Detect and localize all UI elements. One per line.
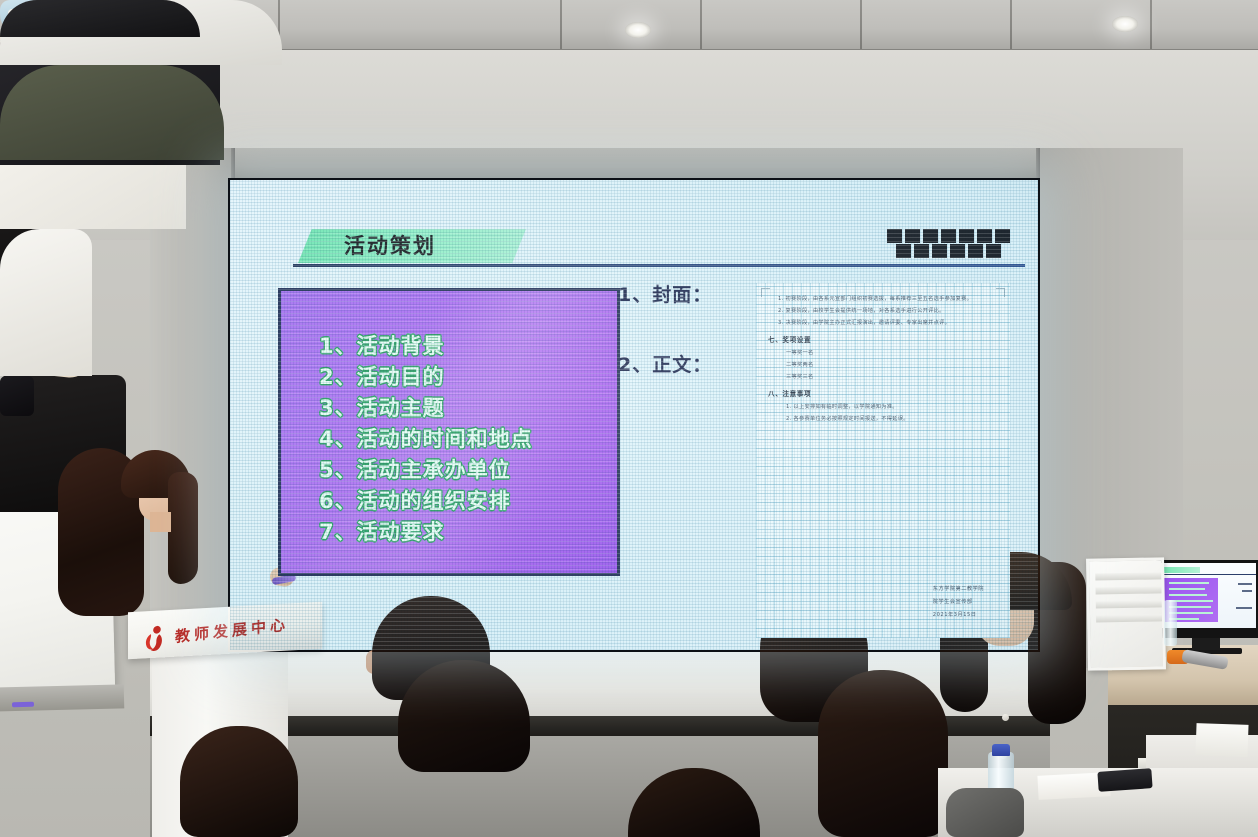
checker-square — [932, 244, 947, 258]
slide-outline-box: 1、活动背景2、活动目的3、活动主题4、活动的时间和地点5、活动主承办单位6、活… — [278, 288, 620, 576]
presenter-neck — [150, 512, 171, 532]
checker-square — [968, 244, 983, 258]
checker-square — [914, 244, 929, 258]
document-signature-line: 院学生会宣传部 — [933, 596, 984, 609]
small-bottle[interactable] — [1164, 600, 1177, 646]
ceiling-downlight — [625, 22, 651, 38]
ceiling-downlight — [1112, 16, 1138, 32]
slide-outline-item: 5、活动主承办单位 — [319, 455, 533, 486]
slide-outline-item: 2、活动目的 — [319, 362, 533, 393]
checker-square — [905, 229, 920, 243]
document-section-line: 二等奖两名 — [768, 359, 1000, 371]
document-signature-line: 东方学院第二教学院 — [933, 583, 984, 596]
document-section-heading: 七、奖项设置 — [768, 333, 1000, 347]
slide-outline-item: 4、活动的时间和地点 — [319, 424, 533, 455]
flipchart-tray — [0, 684, 124, 711]
slide-content: 活动策划 1、活动背景2、活动目的3、活动主题4、活动的时间和地点5、活动主承办… — [230, 180, 1038, 650]
slide-outline-list: 1、活动背景2、活动目的3、活动主题4、活动的时间和地点5、活动主承办单位6、活… — [319, 331, 533, 548]
slide-outline-item: 1、活动背景 — [319, 331, 533, 362]
document-signature: 东方学院第二教学院院学生会宣传部2021年3月15日 — [933, 583, 984, 622]
document-body: 1. 初赛阶段，由各系元宣部门组织初赛选拔，每系推荐三至五名选手参加复赛。2. … — [768, 293, 1000, 425]
audience-3-hair — [180, 726, 298, 837]
checker-square — [923, 229, 938, 243]
document-section-line: 一等奖一名 — [768, 347, 1000, 359]
marker-pen[interactable] — [12, 702, 34, 708]
audience-member-3 — [0, 0, 200, 37]
scanned-document-image: 1. 初赛阶段，由各系元宣部门组织初赛选拔，每系推荐三至五名选手参加复赛。2. … — [756, 283, 1010, 638]
jacket-patch — [0, 376, 34, 416]
checker-square — [887, 229, 902, 243]
checker-square — [977, 229, 992, 243]
slide-right-labels: 1、封面：2、正文： — [618, 280, 712, 377]
document-section-heading: 八、注意事项 — [768, 387, 1000, 401]
mobile-phone[interactable] — [1097, 768, 1152, 792]
audience-2-hoodie — [0, 65, 224, 160]
audience-3-body — [0, 0, 200, 37]
slide-outline-item: 6、活动的组织安排 — [319, 486, 533, 517]
document-section-line: 三等奖三名 — [768, 371, 1000, 383]
checker-square — [986, 244, 1001, 258]
paper-sheet[interactable] — [1195, 723, 1248, 757]
checker-square — [995, 229, 1010, 243]
slide-outline-item: 3、活动主题 — [319, 393, 533, 424]
jacket-button — [1002, 714, 1009, 721]
led-wall-display[interactable]: 活动策划 1、活动背景2、活动目的3、活动主题4、活动的时间和地点5、活动主承办… — [228, 178, 1040, 652]
document-section-line: 1. 以上安排如有临时调整，以学院通知为准。 — [768, 401, 1000, 413]
monitor-slide-banner — [1164, 567, 1200, 573]
slide-outline-item: 7、活动要求 — [319, 517, 533, 548]
monitor-stand — [1192, 636, 1220, 650]
varsity-jacket-sleeve — [0, 229, 92, 376]
slide-right-label: 2、正文： — [618, 350, 712, 377]
audience-5-hair — [818, 670, 948, 837]
document-section-line: 2. 各参赛单位务必按照规定时间报送，不得延误。 — [768, 413, 1000, 425]
checker-decoration — [887, 229, 1015, 260]
checker-square — [896, 244, 911, 258]
document-signature-line: 2021年3月15日 — [933, 609, 984, 622]
document-paragraph: 3. 决赛阶段，由学院主办正式汇报演出，邀请评委、专家出席并点评。 — [768, 317, 1000, 329]
wall-vent-panel — [1086, 557, 1166, 670]
presenter-hair-right — [168, 472, 198, 584]
gloves[interactable] — [946, 788, 1024, 837]
slide-title-rule — [293, 264, 1025, 267]
audience-2-hair — [398, 660, 530, 772]
document-paragraph: 2. 复赛阶段，由校学生会提供统一场地，对各系选手进行公开评比。 — [768, 305, 1000, 317]
checker-square — [941, 229, 956, 243]
slide-title-banner: 活动策划 — [298, 229, 526, 263]
document-paragraph: 1. 初赛阶段，由各系元宣部门组织初赛选拔，每系推荐三至五名选手参加复赛。 — [768, 293, 1000, 305]
presentation-room-photo: 活动策划 1、活动背景2、活动目的3、活动主题4、活动的时间和地点5、活动主承办… — [0, 0, 1258, 837]
slide-title: 活动策划 — [344, 236, 436, 257]
checker-square — [959, 229, 974, 243]
water-bottle-cap — [992, 744, 1010, 756]
screen-soffit — [150, 148, 1180, 180]
institution-logo-icon — [142, 624, 167, 654]
slide-right-label: 1、封面： — [618, 280, 712, 307]
checker-square — [950, 244, 965, 258]
